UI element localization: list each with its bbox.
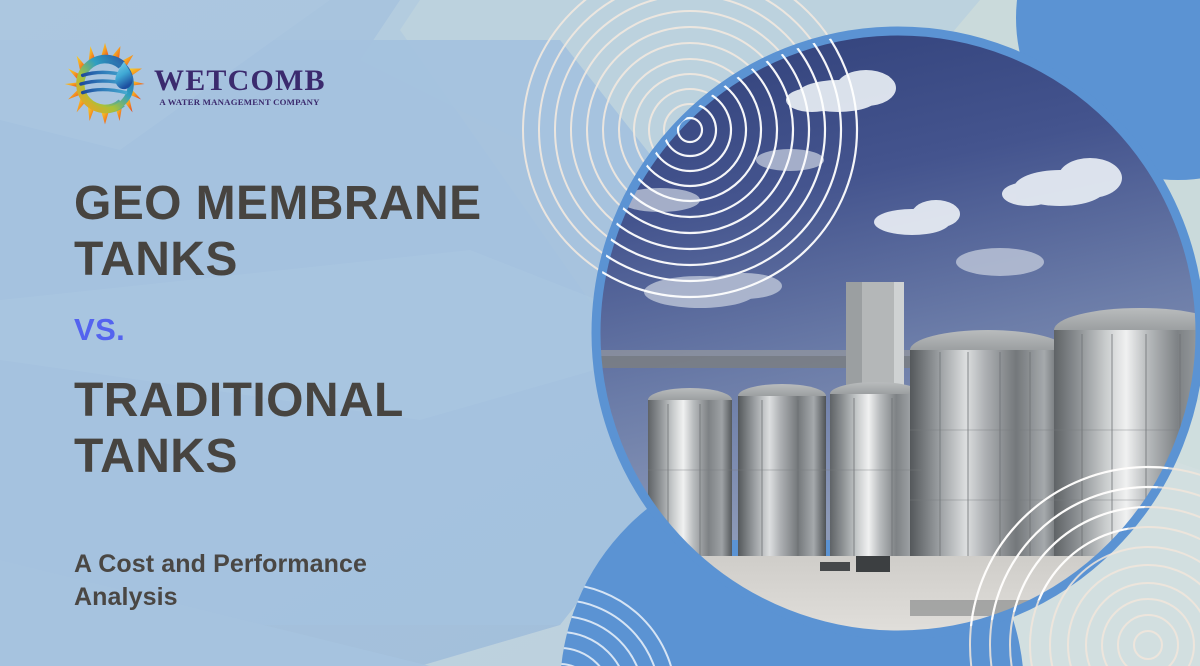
headline-versus: VS. <box>74 313 594 347</box>
headline-line-2: TANKS <box>74 232 594 288</box>
wordmark-main: WETCOMB <box>154 66 326 96</box>
headline-line-1: GEO MEMBRANE <box>74 176 594 232</box>
subtitle-line-1: A Cost and Performance <box>74 548 504 581</box>
headline-line-4: TANKS <box>74 429 594 485</box>
headline-block: GEO MEMBRANE TANKS VS. TRADITIONAL TANKS <box>74 176 594 485</box>
wetcomb-logo-mark <box>62 41 148 127</box>
wetcomb-wordmark: WETCOMB A WATER MANAGEMENT COMPANY <box>154 62 326 107</box>
sun-waves-drop-icon <box>62 41 148 127</box>
subtitle-block: A Cost and Performance Analysis <box>74 548 504 614</box>
wetcomb-logo[interactable]: WETCOMB A WATER MANAGEMENT COMPANY <box>62 38 312 130</box>
presentation-slide: WETCOMB A WATER MANAGEMENT COMPANY GEO M… <box>0 0 1200 666</box>
subtitle-line-2: Analysis <box>74 581 504 614</box>
wordmark-tagline: A WATER MANAGEMENT COMPANY <box>160 98 320 107</box>
headline-line-3: TRADITIONAL <box>74 373 594 429</box>
